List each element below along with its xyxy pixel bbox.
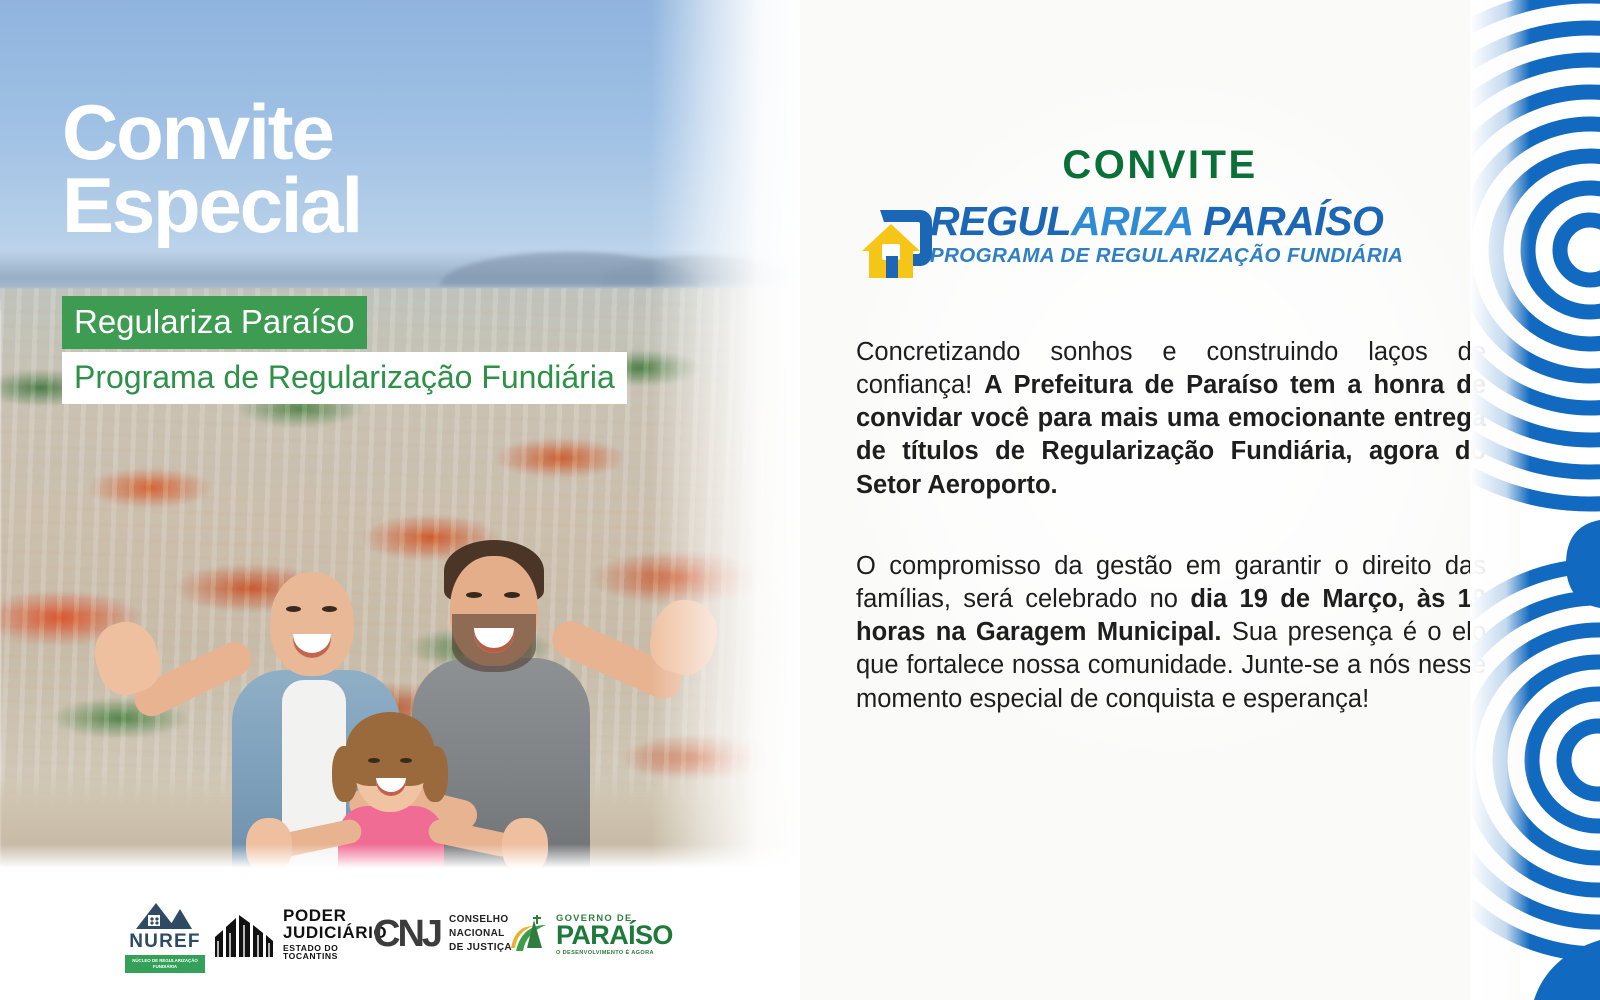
- courthouse-icon: [213, 911, 275, 957]
- hero-title-line2: Especial: [62, 169, 702, 242]
- pattern-fade-overlay: [1470, 0, 1530, 1000]
- hero-photo-panel: Convite Especial Regulariza Paraíso Prog…: [0, 0, 800, 868]
- invitation-paragraph-2: O compromisso da gestão em garantir o di…: [856, 550, 1486, 716]
- logo-word-second: PARAÍSO: [1203, 198, 1383, 244]
- father-eye: [466, 592, 482, 598]
- hero-title: Convite Especial: [62, 96, 702, 243]
- cnj-monogram: CNJ: [373, 913, 440, 956]
- house-logo-icon: [858, 204, 936, 284]
- girl-eye: [400, 758, 412, 763]
- logo-word-bold: REGUL: [930, 198, 1071, 244]
- mother-head: [270, 572, 354, 676]
- nuref-tagline: NÚCLEO DE REGULARIZAÇÃO FUNDIÁRIA: [125, 955, 205, 973]
- invitation-paragraph-1: Concretizando sonhos e construindo laços…: [856, 336, 1486, 502]
- girl-hair: [346, 712, 434, 786]
- logo-word-light: ARIZA: [1071, 198, 1192, 244]
- footer-logos-bar: NUREF NÚCLEO DE REGULARIZAÇÃO FUNDIÁRIA: [0, 868, 800, 1000]
- girl-eye: [368, 758, 380, 763]
- nuref-wordmark: NUREF: [129, 931, 200, 953]
- nuref-logo: NUREF NÚCLEO DE REGULARIZAÇÃO FUNDIÁRIA: [105, 886, 225, 982]
- father-eye: [504, 592, 520, 598]
- paraiso-emblem-icon: [510, 914, 552, 954]
- governo-paraiso-logo: GOVERNO DE PARAÍSO O DESENVOLVIMENTO É A…: [510, 886, 675, 982]
- mother-eye: [286, 606, 301, 612]
- family-photo-subject: [150, 530, 710, 868]
- cnj-line1: CONSELHO: [449, 913, 512, 927]
- content-heading: CONVITE: [800, 143, 1520, 188]
- regulariza-paraiso-logo: REGULARIZA PARAÍSO PROGRAMA DE REGULARIZ…: [858, 200, 1458, 292]
- hero-program-subtitle: Programa de Regularização Fundiária: [62, 352, 627, 404]
- fingerprint-rings-pattern: [1470, 0, 1600, 1000]
- logo-wordmark: REGULARIZA PARAÍSO PROGRAMA DE REGULARIZ…: [930, 200, 1458, 268]
- poder-judiciario-logo: PODER JUDICIÁRIO ESTADO DO TOCANTINS: [213, 886, 393, 982]
- photo-bottom-fade: [0, 844, 800, 868]
- cnj-line3: DE JUSTIÇA: [449, 941, 512, 955]
- paraiso-wordmark: PARAÍSO: [556, 923, 673, 949]
- logo-main-word: REGULARIZA PARAÍSO: [930, 200, 1458, 243]
- logo-subtitle: PROGRAMA DE REGULARIZAÇÃO FUNDIÁRIA: [930, 245, 1458, 268]
- hero-program-tag: Regulariza Paraíso: [62, 296, 367, 349]
- mother-eye: [322, 606, 337, 612]
- invitation-poster: Convite Especial Regulariza Paraíso Prog…: [0, 0, 1600, 1000]
- paraiso-tagline: O DESENVOLVIMENTO É AGORA: [556, 950, 673, 956]
- cnj-line2: NACIONAL: [449, 927, 512, 941]
- nuref-house-icon: [134, 895, 196, 929]
